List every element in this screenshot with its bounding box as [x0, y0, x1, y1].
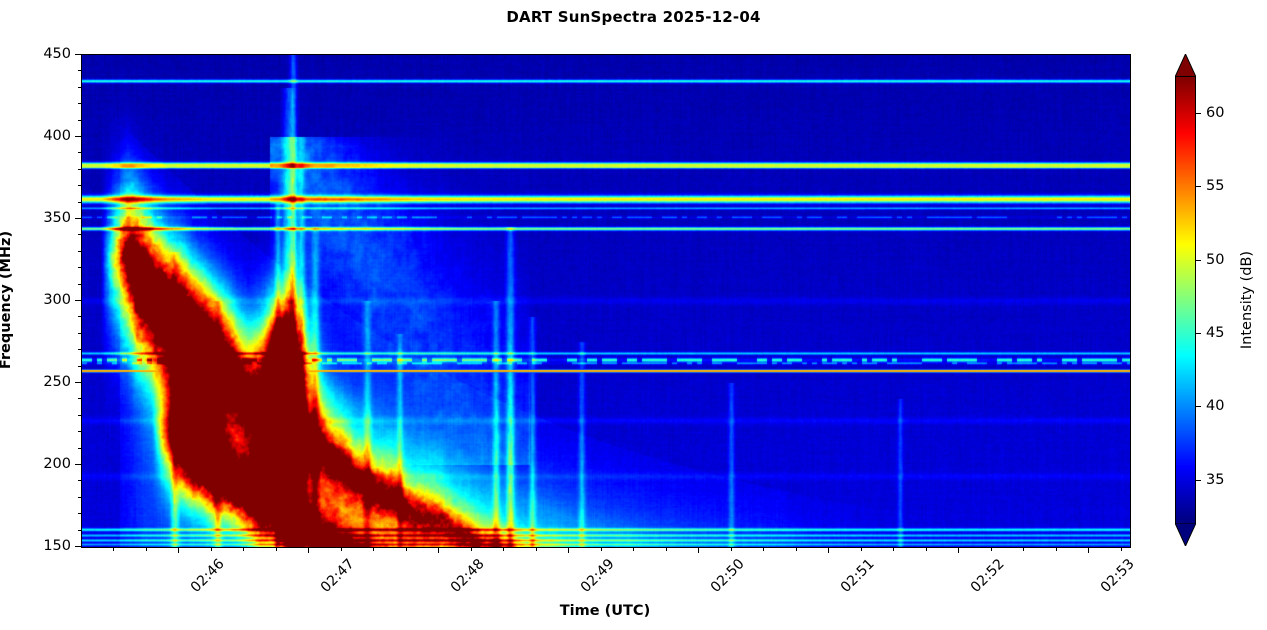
y-tick-label: 450: [0, 46, 71, 62]
y-minor-tick-mark: [78, 284, 82, 285]
colorbar-tick-label: 40: [1206, 398, 1224, 414]
colorbar-tick-mark: [1196, 333, 1201, 334]
y-minor-tick-mark: [78, 366, 82, 367]
colorbar-tick-label: 55: [1206, 178, 1224, 194]
x-minor-tick-mark: [243, 547, 244, 551]
colorbar-tick-mark: [1196, 480, 1201, 481]
x-axis-label: Time (UTC): [560, 603, 650, 619]
spectrogram-image: [82, 55, 1130, 547]
x-minor-tick-mark: [796, 547, 797, 551]
x-minor-tick-mark: [731, 547, 732, 551]
y-minor-tick-mark: [78, 398, 82, 399]
y-tick-mark: [75, 546, 81, 547]
x-minor-tick-mark: [146, 547, 147, 551]
x-minor-tick-mark: [1023, 547, 1024, 551]
y-minor-tick-mark: [78, 234, 82, 235]
y-minor-tick-mark: [78, 530, 82, 531]
colorbar-tick-mark: [1196, 406, 1201, 407]
x-minor-tick-mark: [1056, 547, 1057, 551]
y-tick-label: 150: [0, 538, 71, 554]
y-tick-label: 200: [0, 456, 71, 472]
x-minor-tick-mark: [406, 547, 407, 551]
x-tick-label: 02:50: [708, 556, 748, 596]
y-minor-tick-mark: [78, 333, 82, 334]
y-tick-mark: [75, 464, 81, 465]
y-tick-label: 400: [0, 128, 71, 144]
x-tick-label: 02:53: [1098, 556, 1138, 596]
x-tick-label: 02:46: [188, 556, 228, 596]
y-minor-tick-mark: [78, 448, 82, 449]
x-minor-tick-mark: [763, 547, 764, 551]
y-minor-tick-mark: [78, 480, 82, 481]
colorbar-extend-top-icon: [1175, 54, 1196, 77]
y-minor-tick-mark: [78, 185, 82, 186]
x-minor-tick-mark: [666, 547, 667, 551]
colorbar-label: Intensity (dB): [1239, 251, 1255, 349]
spectrogram-axes[interactable]: [81, 54, 1131, 548]
x-tick-mark: [438, 547, 439, 553]
figure-canvas: DART SunSpectra 2025-12-04 Frequency (MH…: [0, 0, 1267, 630]
x-minor-tick-mark: [113, 547, 114, 551]
y-tick-mark: [75, 300, 81, 301]
y-minor-tick-mark: [78, 120, 82, 121]
x-minor-tick-mark: [373, 547, 374, 551]
colorbar-gradient: [1175, 76, 1196, 524]
x-minor-tick-mark: [1121, 547, 1122, 551]
x-minor-tick-mark: [536, 547, 537, 551]
y-minor-tick-mark: [78, 431, 82, 432]
y-tick-label: 250: [0, 374, 71, 390]
x-tick-mark: [1088, 547, 1089, 553]
x-minor-tick-mark: [341, 547, 342, 551]
y-minor-tick-mark: [78, 349, 82, 350]
colorbar[interactable]: 605550454035: [1175, 54, 1196, 546]
y-minor-tick-mark: [78, 415, 82, 416]
colorbar-tick-label: 45: [1206, 325, 1224, 341]
x-tick-mark: [698, 547, 699, 553]
x-tick-label: 02:49: [578, 556, 618, 596]
y-minor-tick-mark: [78, 152, 82, 153]
x-tick-mark: [178, 547, 179, 553]
x-minor-tick-mark: [893, 547, 894, 551]
y-minor-tick-mark: [78, 87, 82, 88]
x-tick-mark: [308, 547, 309, 553]
colorbar-tick-label: 50: [1206, 252, 1224, 268]
x-tick-mark: [958, 547, 959, 553]
y-tick-mark: [75, 218, 81, 219]
x-minor-tick-mark: [276, 547, 277, 551]
colorbar-tick-mark: [1196, 260, 1201, 261]
x-tick-mark: [828, 547, 829, 553]
x-minor-tick-mark: [471, 547, 472, 551]
y-minor-tick-mark: [78, 169, 82, 170]
colorbar-extend-bottom-icon: [1175, 523, 1196, 546]
y-minor-tick-mark: [78, 267, 82, 268]
colorbar-tick-label: 35: [1206, 472, 1224, 488]
x-tick-mark: [568, 547, 569, 553]
y-tick-label: 300: [0, 292, 71, 308]
x-minor-tick-mark: [601, 547, 602, 551]
y-minor-tick-mark: [78, 103, 82, 104]
colorbar-tick-label: 60: [1206, 105, 1224, 121]
y-tick-label: 350: [0, 210, 71, 226]
colorbar-tick-mark: [1196, 186, 1201, 187]
y-minor-tick-mark: [78, 70, 82, 71]
x-minor-tick-mark: [503, 547, 504, 551]
y-minor-tick-mark: [78, 513, 82, 514]
page-title: DART SunSpectra 2025-12-04: [0, 8, 1267, 26]
x-minor-tick-mark: [991, 547, 992, 551]
colorbar-tick-mark: [1196, 113, 1201, 114]
x-tick-label: 02:48: [448, 556, 488, 596]
y-minor-tick-mark: [78, 497, 82, 498]
y-tick-mark: [75, 136, 81, 137]
x-minor-tick-mark: [926, 547, 927, 551]
x-minor-tick-mark: [211, 547, 212, 551]
x-tick-label: 02:47: [318, 556, 358, 596]
x-tick-label: 02:51: [838, 556, 878, 596]
y-tick-mark: [75, 382, 81, 383]
y-minor-tick-mark: [78, 316, 82, 317]
y-minor-tick-mark: [78, 202, 82, 203]
y-tick-mark: [75, 54, 81, 55]
x-tick-label: 02:52: [968, 556, 1008, 596]
y-minor-tick-mark: [78, 251, 82, 252]
x-minor-tick-mark: [633, 547, 634, 551]
x-minor-tick-mark: [861, 547, 862, 551]
